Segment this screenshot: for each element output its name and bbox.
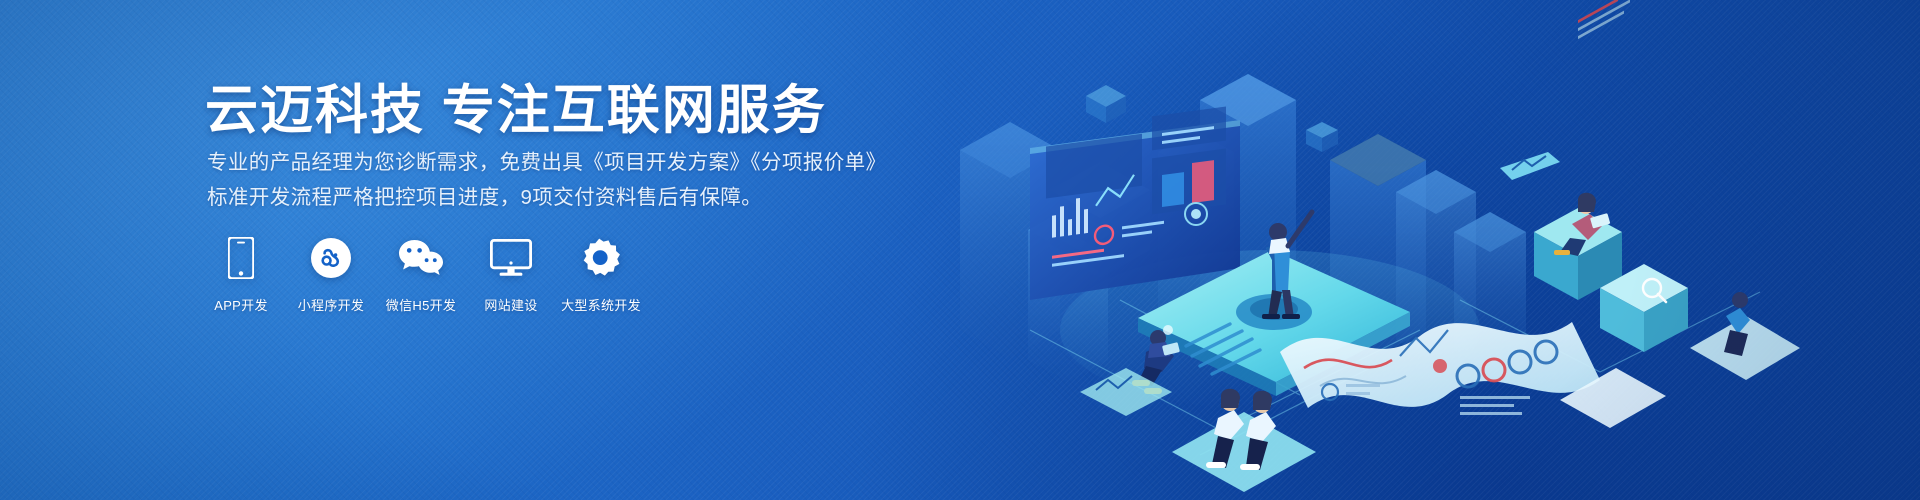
gear-icon bbox=[578, 233, 624, 283]
service-item-app[interactable]: APP开发 bbox=[205, 233, 277, 314]
page-title: 云迈科技 专注互联网服务 bbox=[205, 68, 827, 144]
chart-card bbox=[1500, 152, 1560, 180]
isometric-tech-illustration bbox=[900, 0, 1920, 500]
mobile-phone-icon bbox=[218, 233, 264, 283]
standing-person bbox=[1262, 212, 1312, 319]
mini-program-icon bbox=[308, 233, 354, 283]
skyline-towers bbox=[960, 74, 1526, 382]
pair-of-people bbox=[1172, 389, 1316, 492]
service-label-wechat: 微信H5开发 bbox=[386, 295, 456, 314]
data-ribbon bbox=[1280, 322, 1600, 415]
laptop-person bbox=[1534, 193, 1622, 300]
document-panel bbox=[1560, 0, 1666, 428]
mini-tablet bbox=[1080, 368, 1172, 416]
server-stack bbox=[1050, 162, 1150, 278]
service-item-system[interactable]: 大型系统开发 bbox=[565, 233, 637, 314]
floating-cubes bbox=[1086, 85, 1338, 152]
subtitle-line-1: 专业的产品经理为您诊断需求，免费出具《项目开发方案》《分项报价单》 bbox=[207, 145, 886, 175]
service-item-miniprogram[interactable]: 小程序开发 bbox=[295, 233, 367, 314]
service-item-wechat[interactable]: 微信H5开发 bbox=[385, 233, 457, 314]
seated-person bbox=[1132, 330, 1180, 394]
monitor-icon bbox=[488, 233, 534, 283]
tablet-platform bbox=[1138, 250, 1410, 396]
dashboard-screen bbox=[1030, 107, 1240, 300]
service-item-website[interactable]: 网站建设 bbox=[475, 233, 547, 314]
ground-grid bbox=[1030, 292, 1760, 455]
service-label-app: APP开发 bbox=[214, 295, 268, 314]
service-label-website: 网站建设 bbox=[484, 295, 537, 314]
hero-banner: 云迈科技 专注互联网服务 专业的产品经理为您诊断需求，免费出具《项目开发方案》《… bbox=[0, 0, 1920, 500]
banner-content: 云迈科技 专注互联网服务 专业的产品经理为您诊断需求，免费出具《项目开发方案》《… bbox=[205, 0, 925, 500]
subtitle-line-2: 标准开发流程严格把控项目进度，9项交付资料售后有保障。 bbox=[207, 180, 762, 210]
wechat-icon bbox=[398, 233, 444, 283]
search-cube bbox=[1600, 264, 1688, 352]
service-icon-row: APP开发 小程序开发 bbox=[205, 233, 655, 314]
side-person bbox=[1690, 292, 1800, 380]
service-label-system: 大型系统开发 bbox=[561, 295, 641, 314]
service-label-miniprogram: 小程序开发 bbox=[298, 295, 365, 314]
